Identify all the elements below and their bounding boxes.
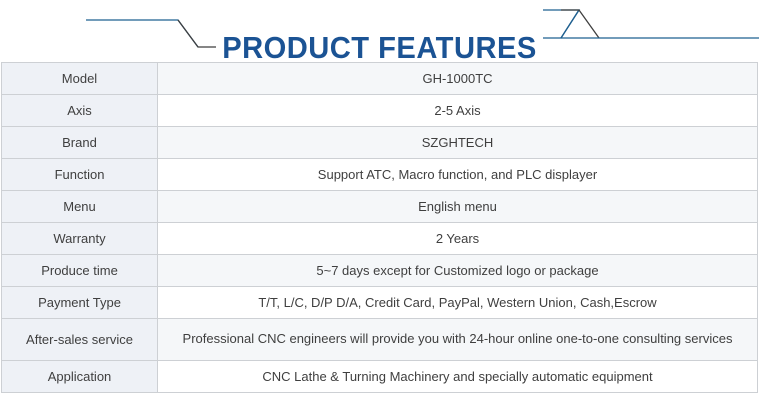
table-row: Function Support ATC, Macro function, an… (2, 159, 758, 191)
feature-label: Application (2, 361, 158, 393)
feature-value: 2 Years (158, 223, 758, 255)
table-row: After-sales service Professional CNC eng… (2, 319, 758, 361)
feature-value: SZGHTECH (158, 127, 758, 159)
table-row: Axis 2-5 Axis (2, 95, 758, 127)
table-body: Model GH-1000TC Axis 2-5 Axis Brand SZGH… (2, 63, 758, 393)
feature-value: T/T, L/C, D/P D/A, Credit Card, PayPal, … (158, 287, 758, 319)
table-row: Payment Type T/T, L/C, D/P D/A, Credit C… (2, 287, 758, 319)
product-features-table: Model GH-1000TC Axis 2-5 Axis Brand SZGH… (1, 62, 758, 393)
table-row: Application CNC Lathe & Turning Machiner… (2, 361, 758, 393)
feature-value: English menu (158, 191, 758, 223)
feature-label: Produce time (2, 255, 158, 287)
table-row: Menu English menu (2, 191, 758, 223)
feature-label: Payment Type (2, 287, 158, 319)
page-header: PRODUCT FEATURES (0, 0, 759, 62)
feature-value: 5~7 days except for Customized logo or p… (158, 255, 758, 287)
feature-value: GH-1000TC (158, 63, 758, 95)
feature-value: 2-5 Axis (158, 95, 758, 127)
feature-label: Menu (2, 191, 158, 223)
feature-label: After-sales service (2, 319, 158, 361)
feature-value: CNC Lathe & Turning Machinery and specia… (158, 361, 758, 393)
table-row: Produce time 5~7 days except for Customi… (2, 255, 758, 287)
feature-value: Professional CNC engineers will provide … (158, 319, 758, 361)
feature-label: Function (2, 159, 158, 191)
page-title: PRODUCT FEATURES (23, 29, 736, 67)
table-row: Model GH-1000TC (2, 63, 758, 95)
feature-label: Warranty (2, 223, 158, 255)
feature-label: Axis (2, 95, 158, 127)
feature-label: Brand (2, 127, 158, 159)
table-row: Brand SZGHTECH (2, 127, 758, 159)
feature-label: Model (2, 63, 158, 95)
feature-value: Support ATC, Macro function, and PLC dis… (158, 159, 758, 191)
table-row: Warranty 2 Years (2, 223, 758, 255)
